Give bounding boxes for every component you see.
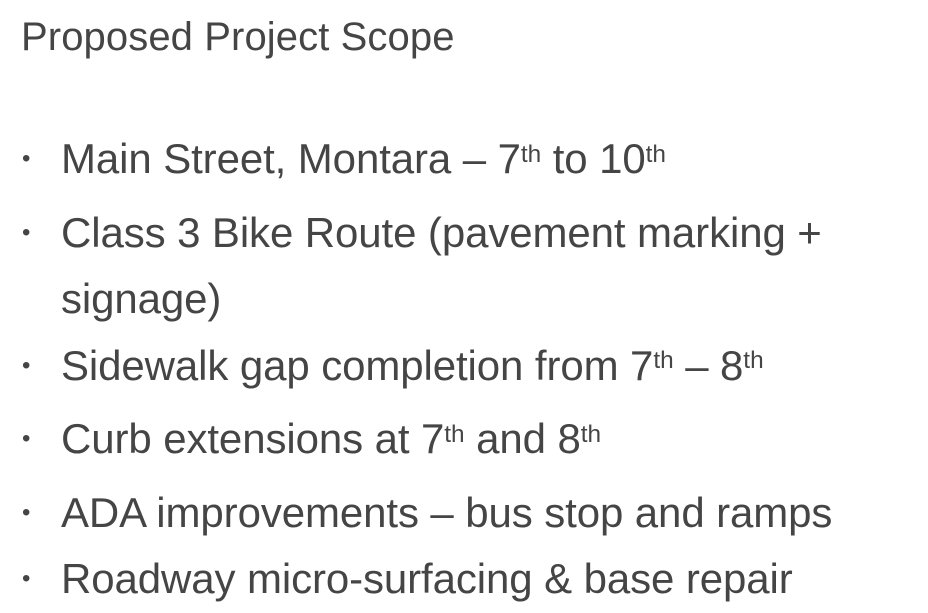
list-item-label: Main Street, Montara – 7th to 10th bbox=[61, 135, 666, 182]
bullet-point-icon: • bbox=[22, 200, 33, 267]
ordinal-suffix: th bbox=[581, 421, 601, 448]
list-item: •Class 3 Bike Route (pavement marking + … bbox=[0, 200, 928, 333]
list-item: •Main Street, Montara – 7th to 10th bbox=[0, 126, 928, 200]
list-item-label: ADA improvements – bus stop and ramps bbox=[61, 489, 832, 536]
list-item-label: Sidewalk gap completion from 7th – 8th bbox=[61, 342, 764, 389]
list-item-label: Curb extensions at 7th and 8th bbox=[61, 415, 601, 462]
presentation-slide: Proposed Project Scope •Main Street, Mon… bbox=[0, 0, 928, 586]
bullet-point-icon: • bbox=[22, 406, 33, 473]
ordinal-suffix: th bbox=[444, 421, 464, 448]
bullet-point-icon: • bbox=[22, 546, 33, 613]
list-item: •ADA improvements – bus stop and ramps bbox=[0, 480, 928, 547]
page-title: Proposed Project Scope bbox=[21, 12, 455, 62]
list-item-label: Class 3 Bike Route (pavement marking + s… bbox=[61, 209, 822, 323]
scope-bullet-list: •Main Street, Montara – 7th to 10th•Clas… bbox=[0, 126, 928, 613]
list-item: •Curb extensions at 7th and 8th bbox=[0, 406, 928, 480]
ordinal-suffix: th bbox=[646, 141, 666, 168]
list-item-label: Roadway micro-surfacing & base repair bbox=[61, 555, 793, 602]
list-item: •Sidewalk gap completion from 7th – 8th bbox=[0, 333, 928, 407]
ordinal-suffix: th bbox=[521, 141, 541, 168]
bullet-point-icon: • bbox=[22, 126, 33, 193]
bullet-point-icon: • bbox=[22, 480, 33, 547]
list-item: •Roadway micro-surfacing & base repair bbox=[0, 546, 928, 613]
ordinal-suffix: th bbox=[743, 347, 763, 374]
ordinal-suffix: th bbox=[653, 347, 673, 374]
bullet-point-icon: • bbox=[22, 333, 33, 400]
